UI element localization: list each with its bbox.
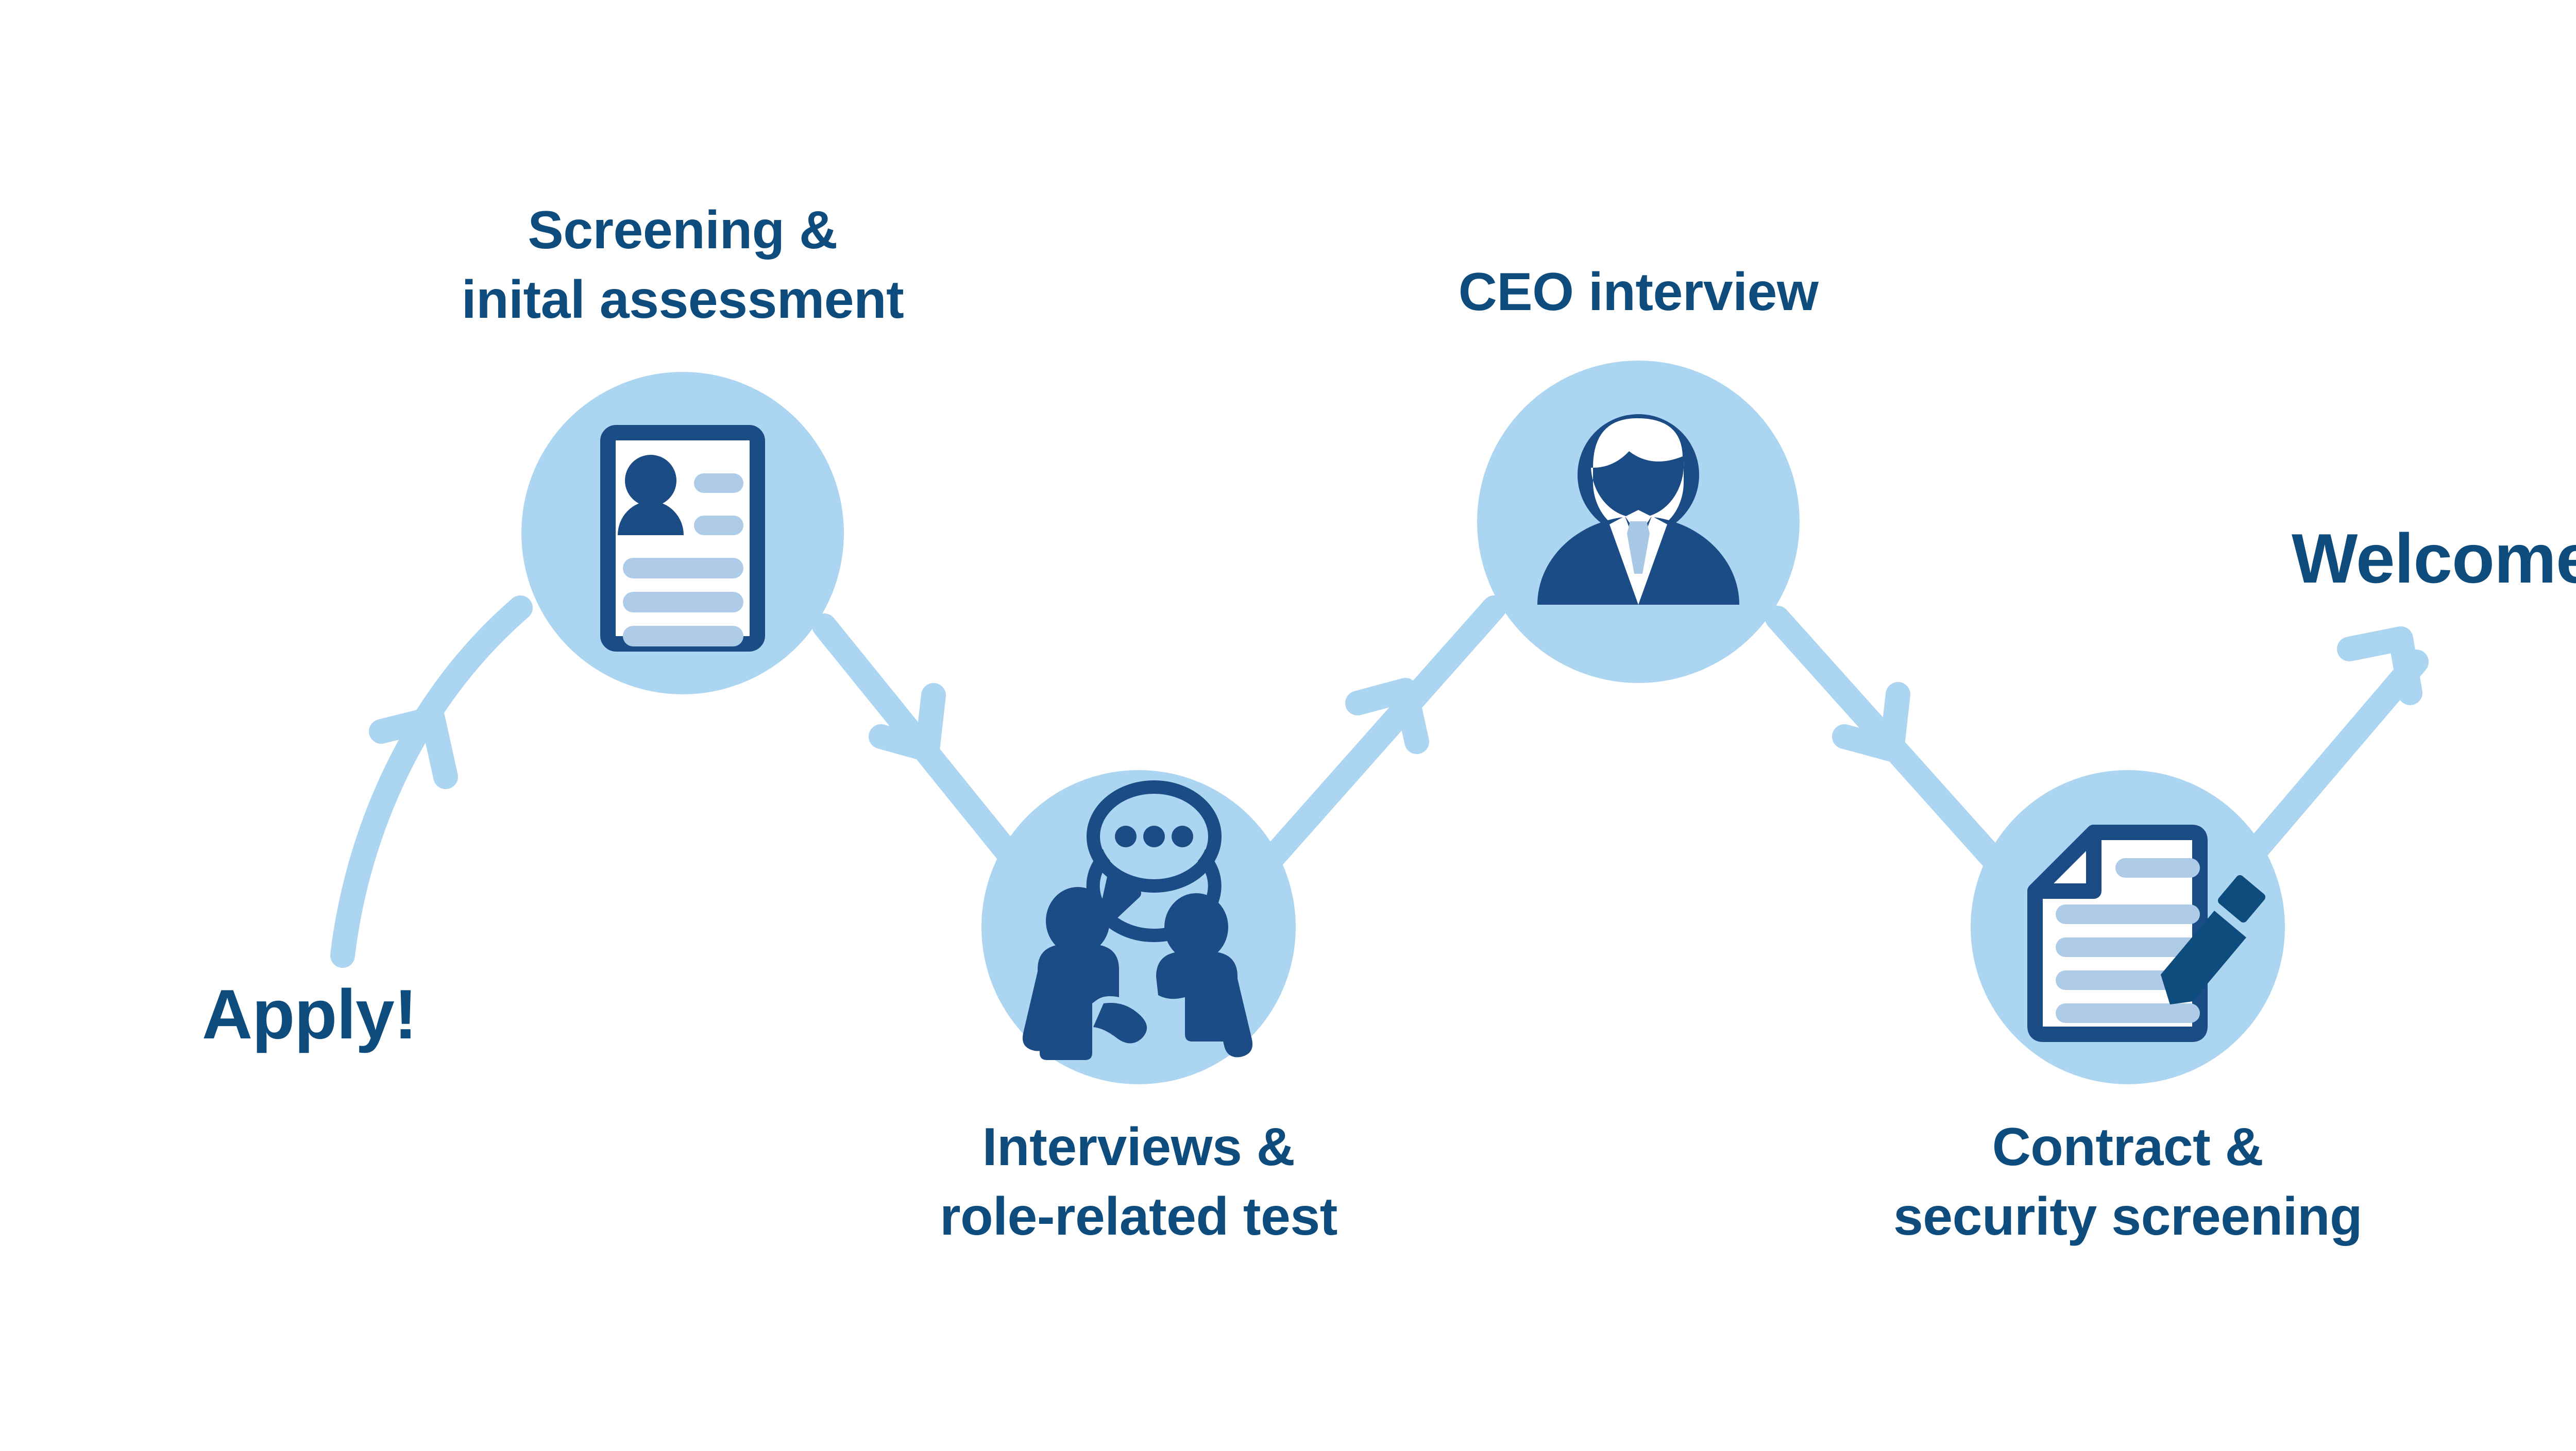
arrowhead-5-icon xyxy=(2349,639,2410,693)
cv-document-icon xyxy=(608,433,757,646)
step-label-contract: Contract & security screening xyxy=(1893,1113,2362,1252)
arrow-segment-start-to-screening xyxy=(343,608,520,955)
welcome-label: Welcome! xyxy=(2292,520,2576,598)
diagram-canvas: Screening & inital assessment CEO interv… xyxy=(0,0,2576,1451)
step-node-ceo-interview[interactable] xyxy=(1477,361,1800,683)
step-node-contract[interactable] xyxy=(1971,770,2285,1084)
step-node-interviews[interactable] xyxy=(981,770,1296,1084)
arrow-segment-interviews-to-ceo xyxy=(1273,608,1494,858)
step-label-screening: Screening & inital assessment xyxy=(462,196,904,335)
step-node-screening[interactable] xyxy=(521,372,844,694)
step-label-interviews: Interviews & role-related test xyxy=(940,1113,1337,1252)
step-label-ceo-interview: CEO interview xyxy=(1459,258,1819,327)
arrow-segment-contract-to-welcome xyxy=(2239,662,2416,870)
apply-label: Apply! xyxy=(202,976,417,1053)
